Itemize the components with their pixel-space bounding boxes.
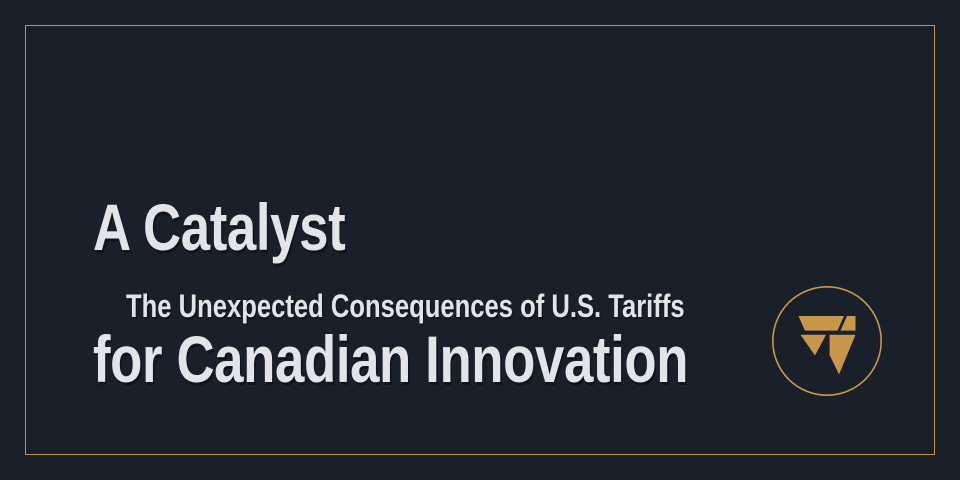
logo-v-monogram (799, 316, 856, 375)
title-slide: A Catalyst for Canadian Innovation The U… (0, 0, 960, 480)
page-subtitle: The Unexpected Consequences of U.S. Tari… (126, 288, 685, 324)
logo-circle-outline (773, 287, 881, 395)
brand-logo (771, 285, 883, 397)
slide-content: A Catalyst for Canadian Innovation The U… (0, 0, 960, 480)
title-line-1: A Catalyst (93, 194, 701, 260)
title-line-2: for Canadian Innovation (93, 326, 701, 392)
